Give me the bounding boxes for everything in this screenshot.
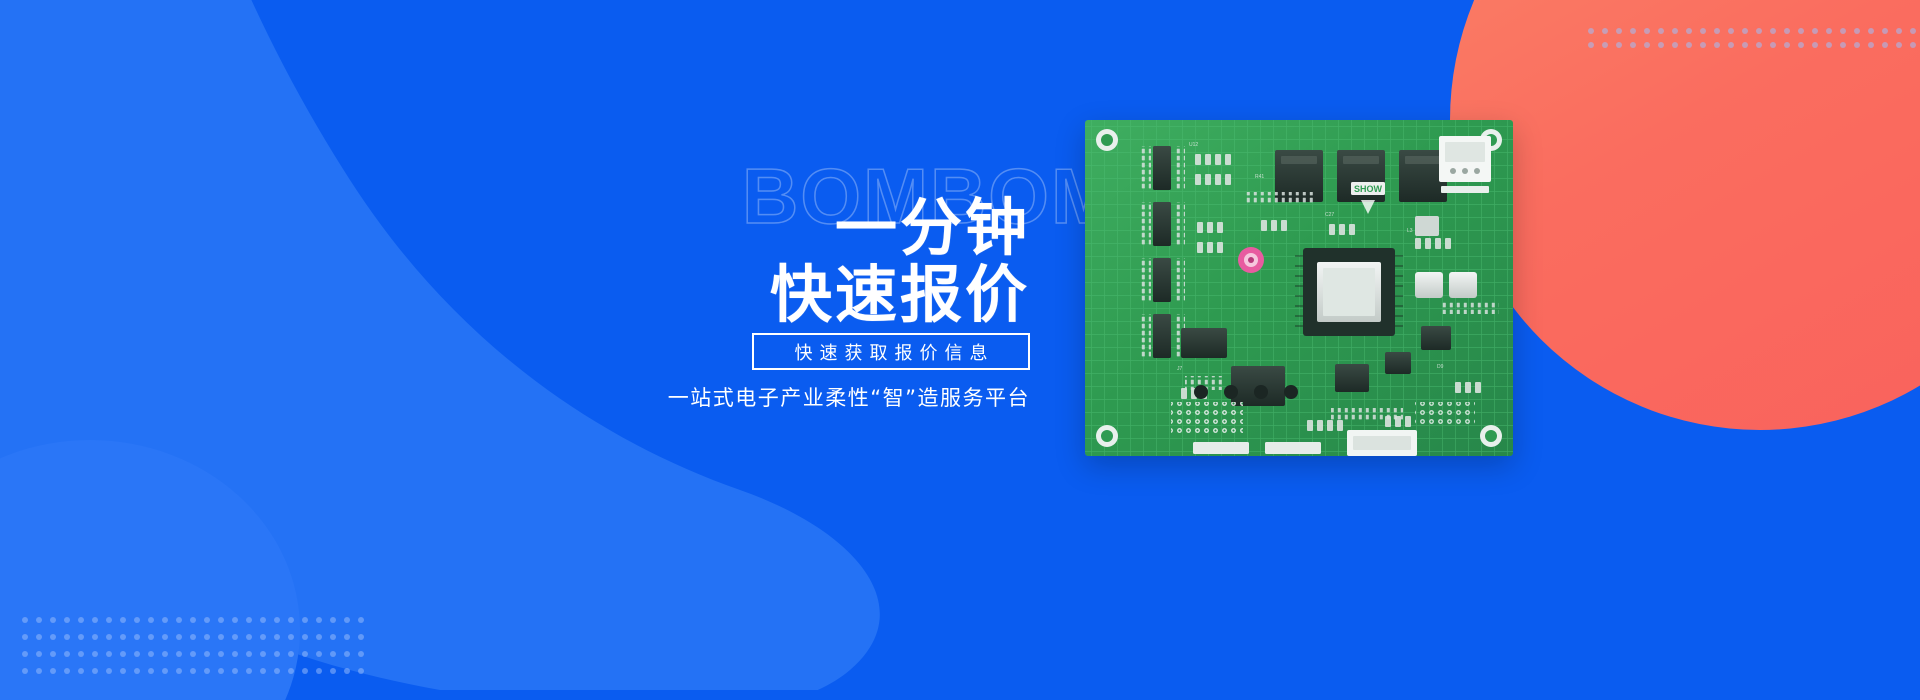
tagline: 一站式电子产业柔性“智”造服务平台: [600, 382, 1030, 412]
pcb-circuit-board-image: SHOW: [1085, 120, 1513, 456]
svg-text:L3: L3: [1407, 228, 1413, 234]
banner-content: BOMBOM 一分钟 快速报价 快速获取报价信息 一站式电子产业柔性“智”造服务…: [0, 0, 1920, 700]
svg-text:R41: R41: [1255, 174, 1264, 180]
headline: 一分钟 快速报价: [650, 196, 1030, 326]
svg-text:C27: C27: [1325, 212, 1334, 218]
svg-text:U12: U12: [1189, 142, 1198, 148]
svg-text:SHOW: SHOW: [1354, 184, 1383, 194]
svg-text:J7: J7: [1177, 366, 1183, 372]
cta-label: 快速获取报价信息: [788, 339, 995, 365]
headline-line-1: 一分钟: [650, 196, 1030, 259]
promo-banner: BOMBOM 一分钟 快速报价 快速获取报价信息 一站式电子产业柔性“智”造服务…: [0, 0, 1920, 700]
svg-text:D9: D9: [1437, 364, 1444, 370]
headline-line-2: 快速报价: [650, 263, 1030, 326]
cta-button[interactable]: 快速获取报价信息: [752, 333, 1030, 370]
